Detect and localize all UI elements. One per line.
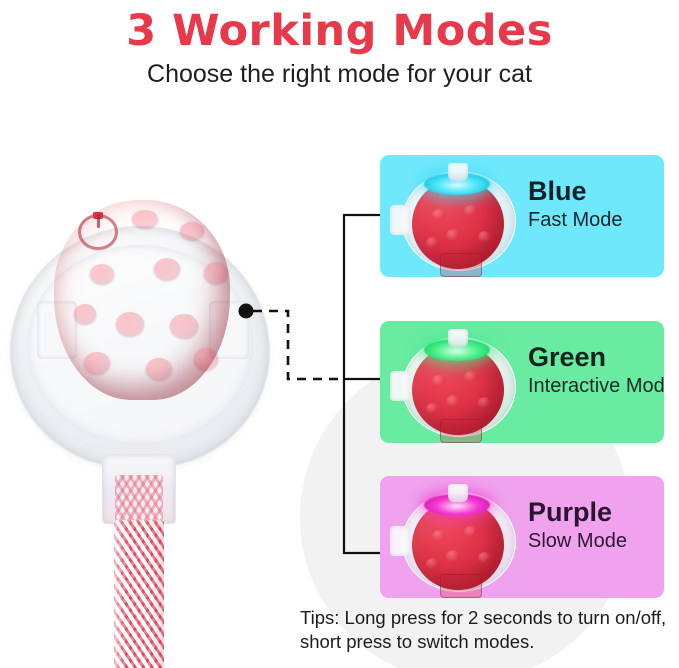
mode-card-text-purple: Purple Slow Mode [528, 498, 656, 553]
thumb-top-cap [448, 163, 468, 181]
red-silicone-ball [54, 200, 230, 400]
ball-bump [132, 210, 158, 228]
hero-product-image [4, 196, 274, 668]
thumb-bump [426, 558, 439, 570]
header: 3 Working Modes Choose the right mode fo… [0, 8, 679, 89]
thumb-housing-tab [390, 371, 410, 401]
mode-card-green[interactable]: Green Interactive Mode [380, 321, 664, 443]
braided-cable [114, 520, 164, 668]
infographic-page: 3 Working Modes Choose the right mode fo… [0, 0, 679, 668]
ball-bump [170, 314, 198, 338]
mode-description-purple: Slow Mode [528, 530, 656, 553]
ball-bump [180, 222, 204, 240]
thumb-bump [464, 526, 478, 538]
neck-braid-core [115, 475, 163, 521]
thumb-bump [478, 397, 491, 409]
thumb-battery-door [440, 574, 482, 598]
thumb-top-cap [448, 329, 468, 347]
mode-name-purple: Purple [528, 498, 656, 526]
page-subtitle: Choose the right mode for your cat [0, 60, 679, 89]
mode-name-blue: Blue [528, 177, 656, 205]
thumb-housing-tab [390, 205, 410, 235]
page-title: 3 Working Modes [0, 8, 679, 54]
power-button-icon [78, 214, 118, 250]
mode-card-text-blue: Blue Fast Mode [528, 177, 656, 232]
mode-thumbnail-purple [398, 482, 518, 594]
thumb-bump [426, 403, 439, 415]
mode-description-blue: Fast Mode [528, 209, 656, 232]
thumb-bump [426, 237, 439, 249]
thumb-bump [464, 205, 478, 217]
ball-bump [74, 304, 96, 324]
thumb-bump [478, 552, 491, 564]
tips-text: Tips: Long press for 2 seconds to turn o… [300, 606, 672, 655]
thumb-bump [478, 231, 491, 243]
thumb-bump [446, 550, 461, 563]
ball-bump [154, 258, 180, 280]
mode-thumbnail-blue [398, 161, 518, 273]
thumb-bump [432, 375, 446, 387]
ball-neck-connector [102, 454, 176, 524]
thumb-bump [446, 229, 461, 242]
thumb-bump [432, 209, 446, 221]
mode-description-green: Interactive Mode [528, 375, 656, 398]
thumb-top-cap [448, 484, 468, 502]
ball-bump [84, 352, 110, 374]
thumb-housing-tab [390, 526, 410, 556]
ball-bump [194, 348, 218, 370]
thumb-bump [432, 530, 446, 542]
thumb-bump [464, 371, 478, 383]
mode-card-text-green: Green Interactive Mode [528, 343, 656, 398]
mode-card-blue[interactable]: Blue Fast Mode [380, 155, 664, 277]
ball-bump [146, 358, 172, 380]
ball-bump [90, 264, 114, 284]
thumb-battery-door [440, 419, 482, 443]
thumb-battery-door [440, 253, 482, 277]
mode-thumbnail-green [398, 327, 518, 439]
mode-card-purple[interactable]: Purple Slow Mode [380, 476, 664, 598]
mode-name-green: Green [528, 343, 656, 371]
ball-bump [116, 312, 144, 336]
thumb-bump [446, 395, 461, 408]
ball-bump [204, 262, 228, 284]
